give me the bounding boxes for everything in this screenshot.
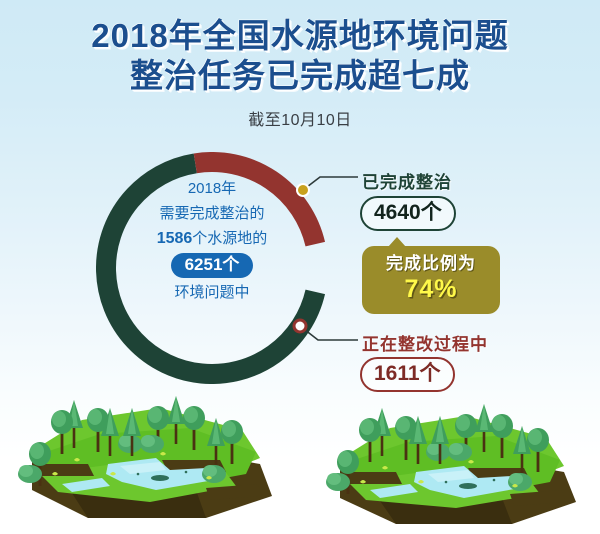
- completion-ratio-callout: 完成比例为 74%: [362, 246, 500, 314]
- center-line-year: 2018年: [96, 176, 328, 201]
- center-total-pill: 6251个: [171, 253, 254, 278]
- center-line-need: 需要完成整治的: [96, 201, 328, 226]
- center-sites-count: 1586: [157, 230, 193, 247]
- center-sites-suffix: 个水源地的: [192, 230, 267, 247]
- center-line-issues: 环境问题中: [96, 280, 328, 305]
- header-block: 2018年全国水源地环境问题 整治任务已完成超七成 截至10月10日: [0, 16, 600, 130]
- island-illustration-right: [322, 388, 592, 534]
- island-illustration-left: [10, 378, 295, 528]
- center-total-pill-row: 6251个: [96, 251, 328, 280]
- callout-label: 完成比例为: [362, 253, 500, 274]
- donut-center-text: 2018年 需要完成整治的 1586个水源地的 6251个 环境问题中: [96, 176, 328, 305]
- badge-in-progress-value: 1611个: [360, 357, 455, 392]
- label-completed-title: 已完成整治: [362, 168, 452, 193]
- callout-percent: 74%: [362, 274, 500, 305]
- label-in-progress-title: 正在整改过程中: [362, 330, 488, 355]
- page-title-line-1: 2018年全国水源地环境问题: [0, 16, 600, 56]
- badge-completed-value: 4640个: [360, 196, 456, 231]
- infographic-poster: 2018年全国水源地环境问题 整治任务已完成超七成 截至10月10日 2018年…: [0, 0, 600, 534]
- subtitle-date: 截至10月10日: [0, 106, 600, 130]
- page-title-line-2: 整治任务已完成超七成: [0, 56, 600, 96]
- center-line-sites: 1586个水源地的: [96, 226, 328, 251]
